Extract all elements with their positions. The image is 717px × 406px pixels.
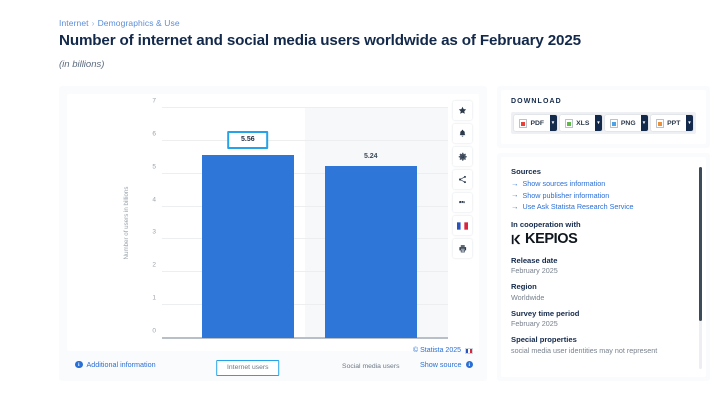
sources-heading: Sources	[511, 167, 692, 176]
page-root: Internet›Demographics & Use Number of in…	[0, 0, 717, 406]
download-ppt-dropdown-arrow[interactable]: ▼	[686, 115, 693, 131]
data-label-internet-users[interactable]: 5.56	[227, 131, 269, 149]
breadcrumb-item-demographics-use[interactable]: Demographics & Use	[98, 18, 180, 28]
download-pdf-label: PDF	[530, 120, 544, 127]
info-icon: i	[75, 361, 83, 369]
kepios-logo: KEPIOS	[511, 232, 692, 247]
y-axis-tick: 0	[152, 328, 156, 335]
quote-icon	[458, 198, 467, 207]
y-axis-tick: 7	[152, 98, 156, 105]
language-french-flag-button[interactable]	[453, 216, 472, 235]
kepios-wordmark: KEPIOS	[525, 232, 577, 247]
survey-time-period-value: February 2025	[511, 319, 692, 328]
bar-internet-users[interactable]	[202, 155, 294, 338]
download-button-row: PDF ▼ XLS ▼ PNG	[511, 112, 696, 134]
page-subtitle: (in billions)	[59, 59, 104, 70]
share-icon	[458, 175, 467, 184]
y-axis-tick: 3	[152, 229, 156, 236]
additional-information-link[interactable]: i Additional information	[75, 360, 156, 369]
xls-file-icon	[565, 119, 573, 128]
breadcrumb-item-internet[interactable]: Internet	[59, 18, 89, 28]
download-ppt-label: PPT	[667, 120, 680, 127]
download-panel: DOWNLOAD PDF ▼ XLS ▼	[497, 86, 710, 148]
sidebar: DOWNLOAD PDF ▼ XLS ▼	[497, 86, 710, 386]
sources-scrollbar-track[interactable]	[699, 167, 702, 369]
ppt-file-icon	[656, 119, 664, 128]
show-publisher-information-label: Show publisher information	[523, 191, 610, 200]
show-sources-information-label: Show sources information	[523, 179, 606, 188]
gridline	[162, 107, 448, 108]
y-axis-tick: 5	[152, 163, 156, 170]
ask-statista-research-service-label: Use Ask Statista Research Service	[523, 202, 634, 211]
sources-scrollbar-thumb[interactable]	[699, 167, 702, 321]
download-ppt-button[interactable]: PPT ▼	[651, 115, 694, 131]
chart-footer: i Additional information © Statista 2025…	[67, 347, 479, 377]
bell-icon	[458, 129, 467, 138]
breadcrumb: Internet›Demographics & Use	[59, 18, 180, 28]
download-png-label: PNG	[621, 120, 636, 127]
breadcrumb-separator: ›	[89, 18, 98, 28]
show-publisher-information-link[interactable]: → Show publisher information	[511, 191, 692, 200]
ask-statista-research-service-link[interactable]: → Use Ask Statista Research Service	[511, 202, 692, 211]
print-button[interactable]	[453, 239, 472, 258]
download-pdf-button[interactable]: PDF ▼	[514, 115, 557, 131]
printer-icon	[458, 244, 468, 254]
french-flag-icon	[457, 222, 468, 230]
gridline	[162, 140, 448, 141]
chart-plot-area: 0 1 2 3 4 5 6 7 5.56 5.24 Internet users…	[162, 108, 448, 338]
statista-copyright: © Statista 2025	[413, 347, 473, 354]
pdf-file-icon	[519, 119, 527, 128]
page-title: Number of internet and social media user…	[59, 32, 581, 49]
kepios-mark-icon	[511, 233, 524, 246]
png-file-icon	[610, 119, 618, 128]
download-xls-dropdown-arrow[interactable]: ▼	[595, 115, 602, 131]
download-xls-label: XLS	[576, 120, 589, 127]
chart-canvas: 0 1 2 3 4 5 6 7 5.56 5.24 Internet users…	[67, 94, 479, 351]
alert-bell-button[interactable]	[453, 124, 472, 143]
special-properties-value: social media user identities may not rep…	[511, 346, 692, 355]
favorite-star-icon	[458, 106, 467, 115]
flag-icon	[465, 348, 473, 354]
chart-card: 0 1 2 3 4 5 6 7 5.56 5.24 Internet users…	[59, 86, 487, 381]
download-png-button[interactable]: PNG ▼	[605, 115, 648, 131]
download-panel-title: DOWNLOAD	[511, 98, 696, 105]
y-axis-tick: 2	[152, 262, 156, 269]
survey-time-period-label: Survey time period	[511, 309, 692, 318]
y-axis-tick: 1	[152, 295, 156, 302]
show-sources-information-link[interactable]: → Show sources information	[511, 179, 692, 188]
chart-toolbar	[453, 101, 472, 258]
chart-settings-button[interactable]	[453, 147, 472, 166]
download-pdf-dropdown-arrow[interactable]: ▼	[550, 115, 557, 131]
share-button[interactable]	[453, 170, 472, 189]
download-xls-button[interactable]: XLS ▼	[560, 115, 603, 131]
show-source-label: Show source	[420, 360, 462, 369]
release-date-value: February 2025	[511, 266, 692, 275]
sources-panel: Sources → Show sources information → Sho…	[497, 153, 710, 381]
arrow-right-icon: →	[511, 180, 519, 188]
release-date-label: Release date	[511, 256, 692, 265]
data-label-social-media-users[interactable]: 5.24	[360, 151, 382, 162]
additional-information-label: Additional information	[87, 360, 156, 369]
show-source-link[interactable]: Show source i	[420, 360, 473, 369]
y-axis-tick: 4	[152, 196, 156, 203]
special-properties-label: Special properties	[511, 335, 692, 344]
arrow-right-icon: →	[511, 191, 519, 199]
favorite-star-button[interactable]	[453, 101, 472, 120]
arrow-right-icon: →	[511, 203, 519, 211]
region-value: Worldwide	[511, 293, 692, 302]
copyright-label: © Statista 2025	[413, 347, 461, 354]
region-label: Region	[511, 282, 692, 291]
y-axis-title: Number of users in billions	[123, 187, 130, 260]
y-axis-tick: 6	[152, 130, 156, 137]
cooperation-heading: In cooperation with	[511, 220, 692, 229]
bar-social-media-users[interactable]	[325, 166, 417, 338]
info-icon: i	[466, 361, 474, 369]
gear-icon	[458, 152, 468, 162]
download-png-dropdown-arrow[interactable]: ▼	[641, 115, 648, 131]
citation-quote-button[interactable]	[453, 193, 472, 212]
